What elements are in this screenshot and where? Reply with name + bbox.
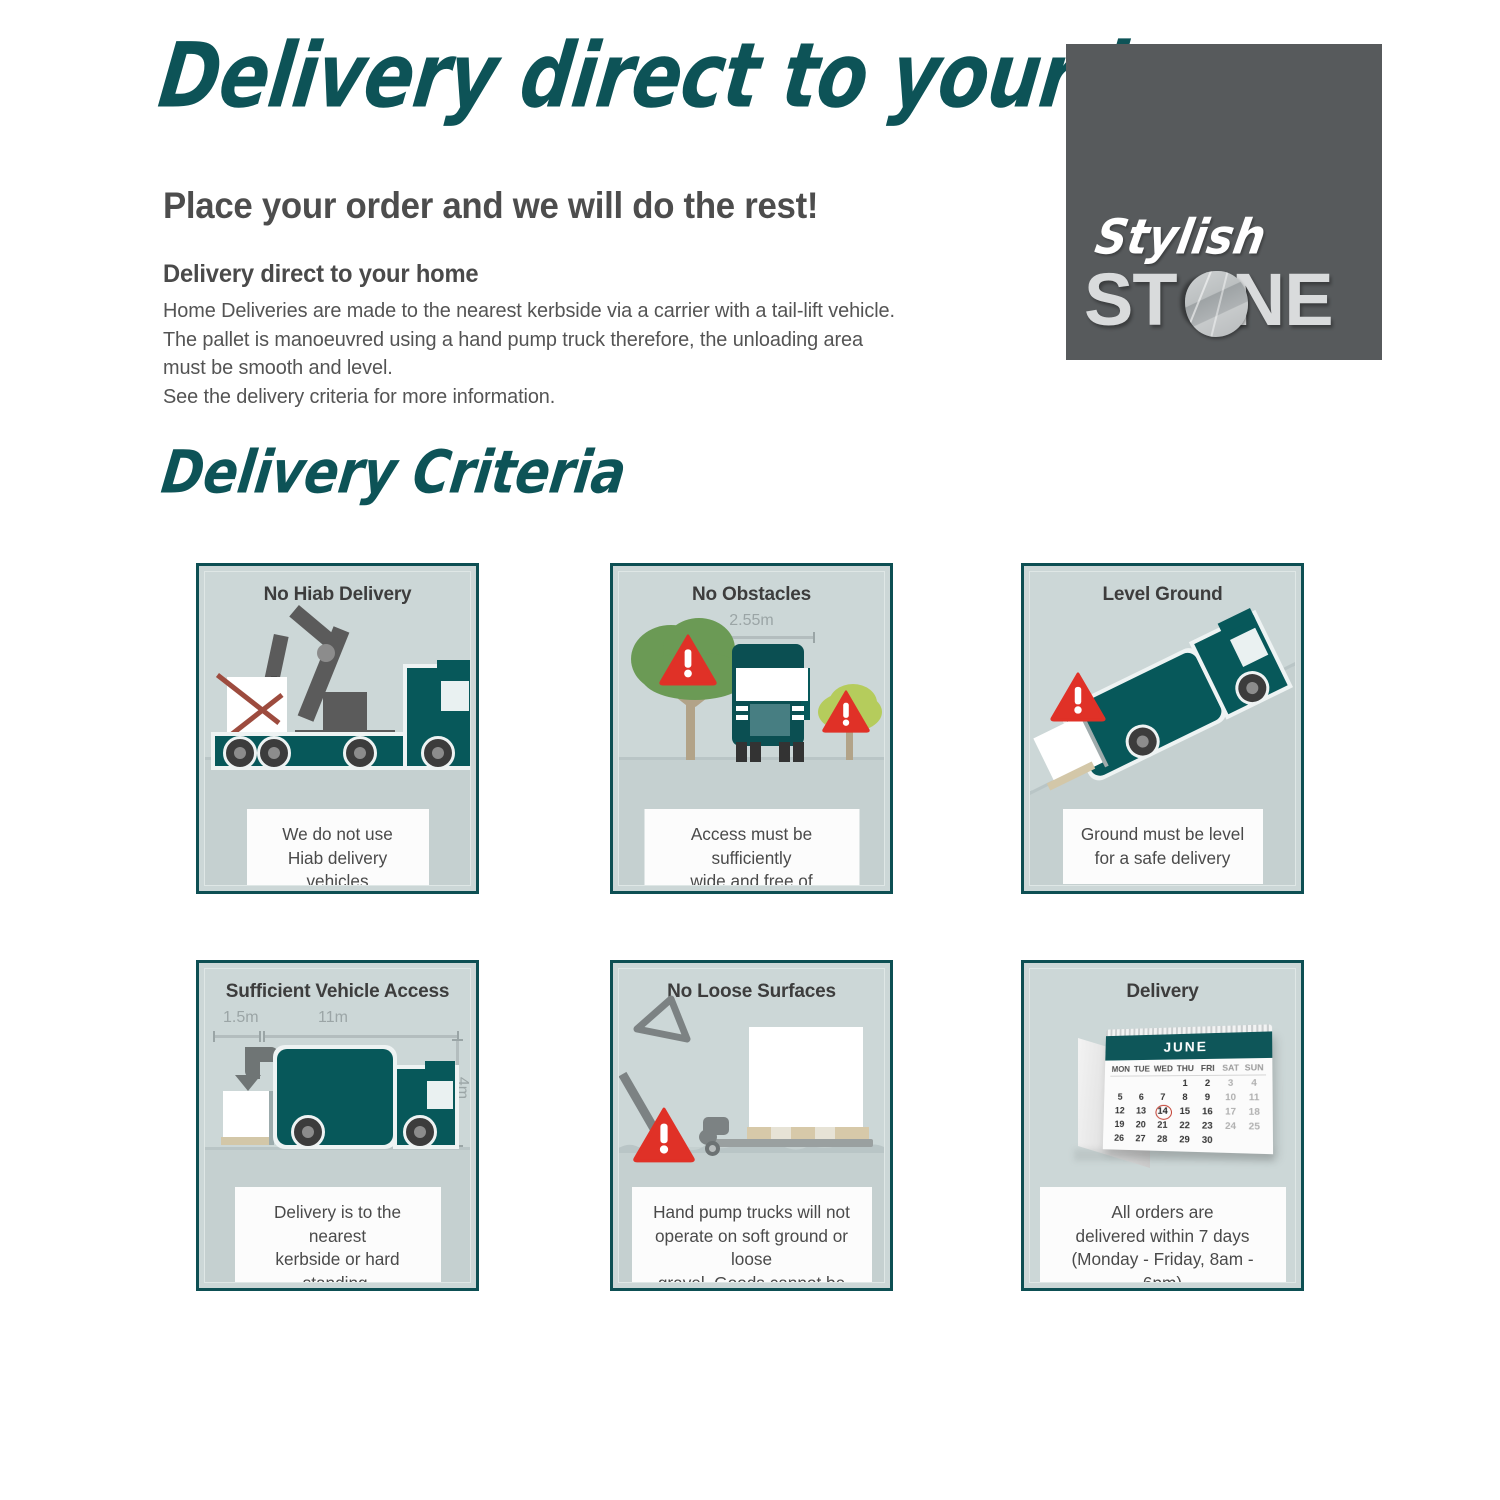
calendar-day-cell[interactable]: 29 [1173,1134,1196,1146]
calendar-day-cell[interactable]: 11 [1242,1092,1266,1103]
criteria-section-title: Delivery Criteria [158,439,630,507]
card-caption: Ground must be level for a safe delivery [1063,809,1263,884]
calendar-day-cell[interactable]: 2 [1196,1078,1219,1089]
caption-line: gravel. Goods cannot be pushed [642,1272,862,1283]
delivery-information-page: Delivery direct to your home Place your … [0,0,1500,1500]
caption-line: Ground must be level [1073,823,1253,847]
warning-triangle-icon [822,690,870,733]
warning-triangle-icon [659,634,717,686]
calendar-day-cell[interactable]: 26 [1108,1133,1129,1144]
calendar-day-header: MON [1110,1064,1131,1074]
calendar-day-cell[interactable]: 10 [1219,1092,1242,1103]
page-subheading: Place your order and we will do the rest… [163,185,818,227]
body-copy: Home Deliveries are made to the nearest … [163,297,939,411]
body-line: See the delivery criteria for more infor… [163,383,939,412]
criteria-card-delivery: Delivery JUNE MON TUE WED THU [1021,960,1304,1291]
calendar-day-header: TUE [1131,1064,1152,1074]
calendar-day-cell[interactable]: 18 [1242,1106,1266,1118]
caption-line: for a safe delivery [1073,847,1253,871]
body-line: The pallet is manoeuvred using a hand pu… [163,326,939,355]
calendar-day-header: WED [1152,1063,1174,1073]
calendar-day-headers: MON TUE WED THU FRI SAT SUN [1110,1062,1266,1077]
calendar-day-cell[interactable]: 28 [1151,1134,1173,1146]
calendar-day-cell[interactable]: 16 [1196,1106,1219,1117]
calendar-day-header: THU [1174,1063,1196,1073]
calendar-day-header: SAT [1219,1062,1242,1072]
brand-logo: Stylish STONE [1066,44,1382,360]
caption-line: Hand pump trucks will not [642,1201,862,1225]
calendar-day-cell[interactable]: 9 [1196,1092,1219,1103]
criteria-card-level-ground: Level Ground [1021,563,1304,894]
card-inner: No Loose Surfaces [618,968,885,1283]
warning-triangle-icon [633,1107,695,1163]
criteria-card-no-obstacles: No Obstacles 2.55m [610,563,893,894]
calendar-day-cell[interactable]: 23 [1196,1120,1219,1132]
calendar-day-cell[interactable]: 25 [1242,1121,1266,1133]
caption-line: delivered within 7 days [1050,1225,1276,1249]
caption-line: kerbside or hard standing. [245,1248,431,1283]
calendar-day-grid: 1234567891011121314151617181920212223242… [1108,1078,1266,1148]
calendar-day-cell[interactable]: 15 [1174,1106,1197,1117]
criteria-card-no-loose-surfaces: No Loose Surfaces [610,960,893,1291]
calendar-day-cell[interactable]: 30 [1196,1135,1219,1147]
calendar-day-cell[interactable]: 21 [1151,1120,1173,1131]
calendar-day-cell[interactable]: 17 [1219,1106,1242,1118]
card-caption: We do not use Hiab delivery vehicles [247,809,429,886]
caption-line: All orders are [1050,1201,1276,1225]
calendar-day-cell[interactable]: 5 [1110,1092,1131,1103]
calendar-day-cell[interactable]: 27 [1130,1133,1152,1144]
calendar-day-cell[interactable]: 24 [1219,1121,1243,1133]
caption-line: Delivery is to the nearest [245,1201,431,1248]
dimension-label: 2.55m [729,612,773,630]
calendar-day-cell[interactable]: 8 [1174,1092,1196,1103]
caption-line: wide and free of obstacles [654,870,849,886]
calendar-blank-cell [1152,1078,1174,1089]
calendar-day-header: SUN [1242,1062,1266,1072]
card-inner: Sufficient Vehicle Access 1.5m 11m 4m [204,968,471,1283]
logo-stone-before: ST [1084,258,1175,341]
card-caption: All orders are delivered within 7 days (… [1040,1187,1286,1283]
calendar-day-cell[interactable]: 20 [1130,1119,1152,1130]
calendar-blank-cell [1110,1078,1131,1089]
card-inner: No Hiab Delivery [204,571,471,886]
dimension-label: 11m [318,1009,348,1027]
caption-line: (Monday - Friday, 8am - 6pm) [1050,1248,1276,1283]
section-heading: Delivery direct to your home [163,260,478,289]
body-line: Home Deliveries are made to the nearest … [163,297,939,326]
caption-line: We do not use [257,823,419,847]
card-inner: Delivery JUNE MON TUE WED THU [1029,968,1296,1283]
dimension-label: 1.5m [223,1009,259,1027]
calendar-month-label: JUNE [1105,1031,1272,1060]
calendar-day-cell[interactable]: 14 [1152,1106,1174,1117]
calendar-day-cell[interactable]: 6 [1131,1092,1153,1103]
calendar-day-cell[interactable]: 4 [1242,1078,1266,1089]
body-line: must be smooth and level. [163,354,939,383]
card-caption: Access must be sufficiently wide and fre… [644,809,859,886]
warning-triangle-icon [1050,672,1106,722]
calendar-day-cell[interactable]: 22 [1173,1120,1196,1132]
calendar-day-cell[interactable]: 13 [1130,1106,1152,1117]
calendar-blank-cell [1131,1078,1153,1089]
card-caption: Hand pump trucks will not operate on sof… [632,1187,872,1283]
criteria-card-no-hiab-delivery: No Hiab Delivery [196,563,479,894]
calendar-day-header: FRI [1196,1063,1219,1073]
card-inner: No Obstacles 2.55m [618,571,885,886]
calendar-day-cell[interactable]: 3 [1219,1078,1242,1089]
calendar-day-cell[interactable]: 7 [1152,1092,1174,1103]
criteria-card-sufficient-vehicle-access: Sufficient Vehicle Access 1.5m 11m 4m [196,960,479,1291]
caption-line: Hiab delivery vehicles [257,847,419,886]
card-caption: Delivery is to the nearest kerbside or h… [235,1187,441,1283]
calendar-day-cell[interactable]: 19 [1109,1119,1130,1130]
caption-line: operate on soft ground or loose [642,1225,862,1272]
calendar-day-cell[interactable]: 12 [1109,1105,1130,1116]
caption-line: Access must be sufficiently [654,823,849,870]
pebble-icon [1185,271,1248,337]
card-inner: Level Ground [1029,571,1296,886]
calendar-day-cell[interactable]: 1 [1174,1078,1196,1089]
